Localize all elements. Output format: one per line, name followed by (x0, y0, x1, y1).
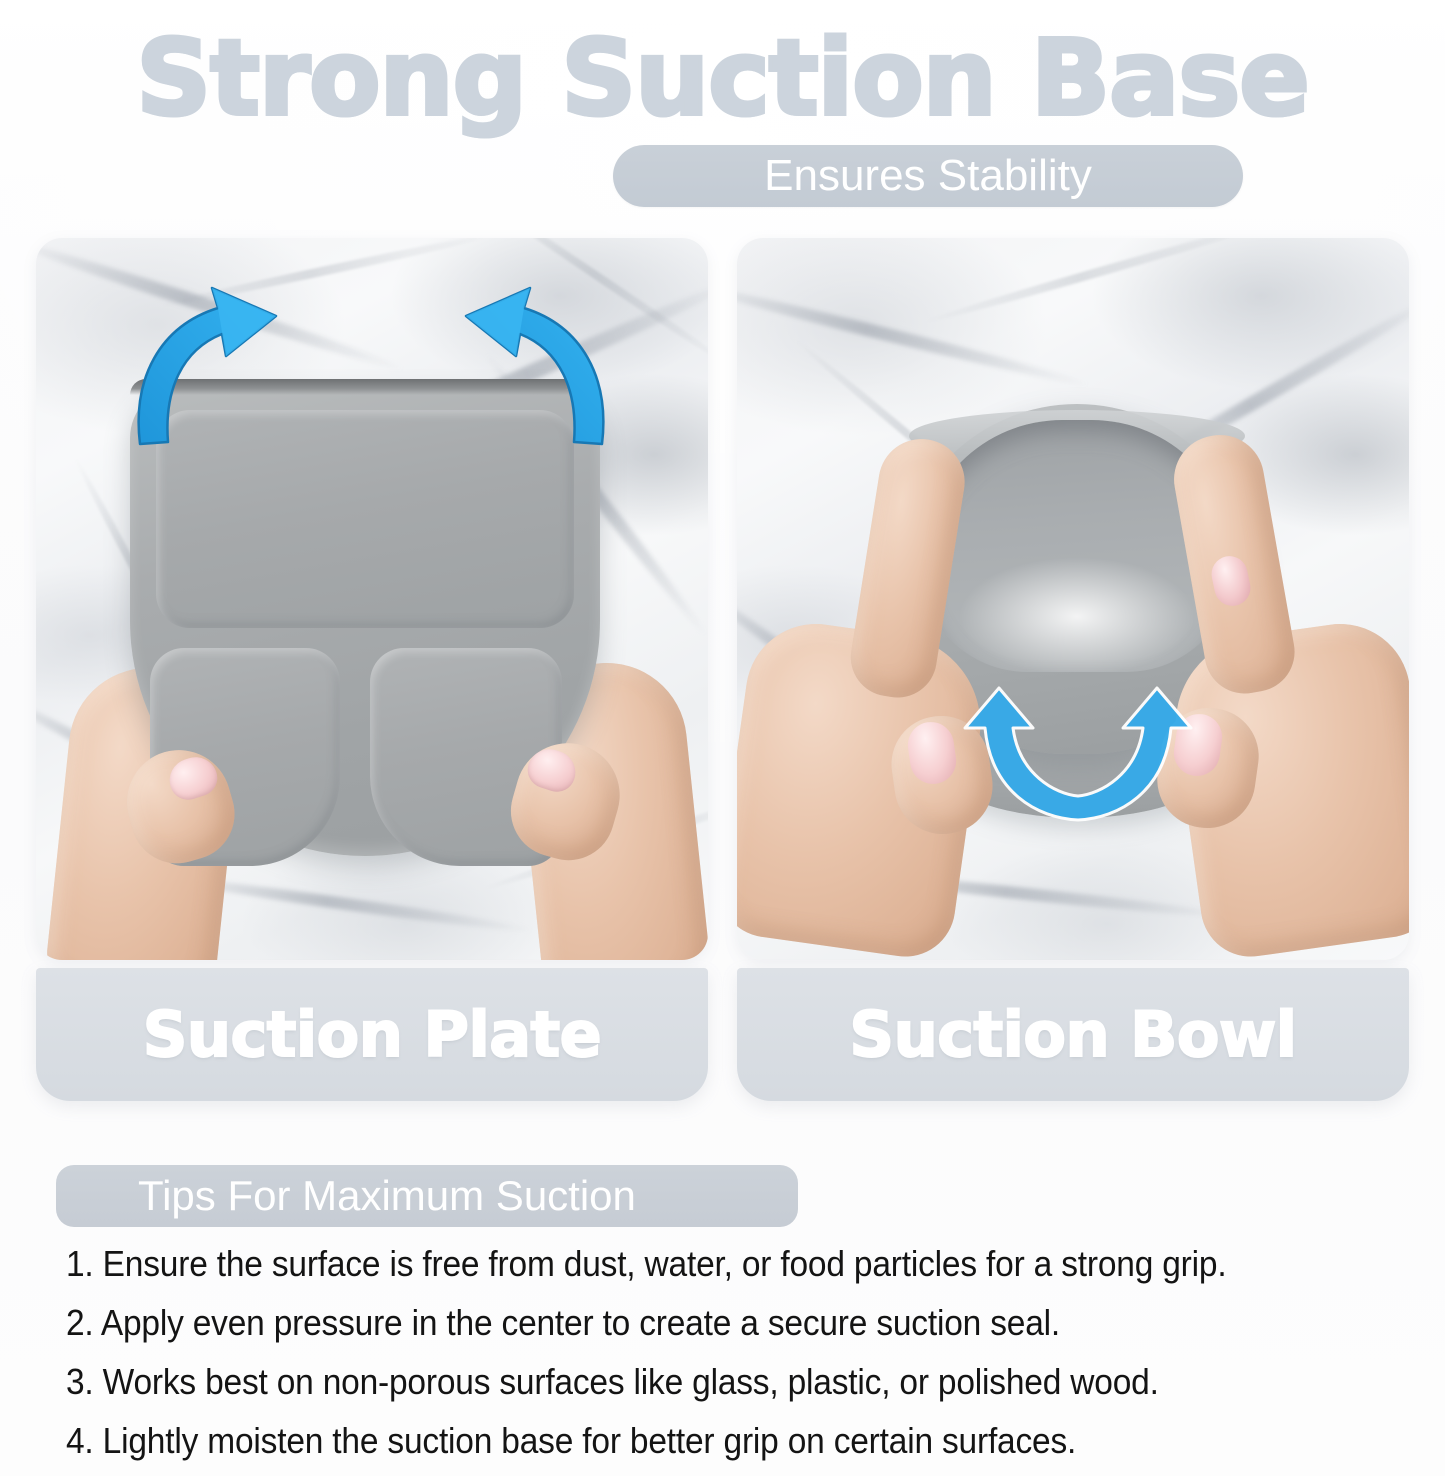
tip-item-2: 2. Apply even pressure in the center to … (66, 1299, 1294, 1347)
suction-base-arrows-icon (933, 682, 1223, 822)
page-title: Strong Suction Base (0, 26, 1445, 130)
caption-suction-plate: Suction Plate (36, 968, 708, 1101)
panel-suction-bowl[interactable] (737, 238, 1409, 960)
caption-suction-bowl: Suction Bowl (737, 968, 1409, 1101)
panel-suction-plate[interactable] (36, 238, 708, 960)
tip-item-3: 3. Works best on non-porous surfaces lik… (66, 1358, 1294, 1406)
bowl-scene (737, 238, 1409, 960)
curved-arrow-up-left-icon (440, 282, 620, 452)
caption-text-plate: Suction Plate (143, 1004, 601, 1066)
tip-item-1: 1. Ensure the surface is free from dust,… (66, 1240, 1294, 1288)
subtitle-text: Ensures Stability (764, 154, 1092, 198)
subtitle-pill: Ensures Stability (613, 145, 1243, 207)
tips-heading-pill: Tips For Maximum Suction (56, 1165, 798, 1227)
caption-text-bowl: Suction Bowl (849, 1004, 1296, 1066)
header: Strong Suction Base Ensures Stability (0, 0, 1445, 222)
plate-scene (36, 238, 708, 960)
tip-item-4: 4. Lightly moisten the suction base for … (66, 1417, 1294, 1465)
curved-arrow-up-right-icon (122, 282, 302, 452)
tips-heading-text: Tips For Maximum Suction (138, 1175, 636, 1217)
tips-list: 1. Ensure the surface is free from dust,… (66, 1240, 1386, 1476)
